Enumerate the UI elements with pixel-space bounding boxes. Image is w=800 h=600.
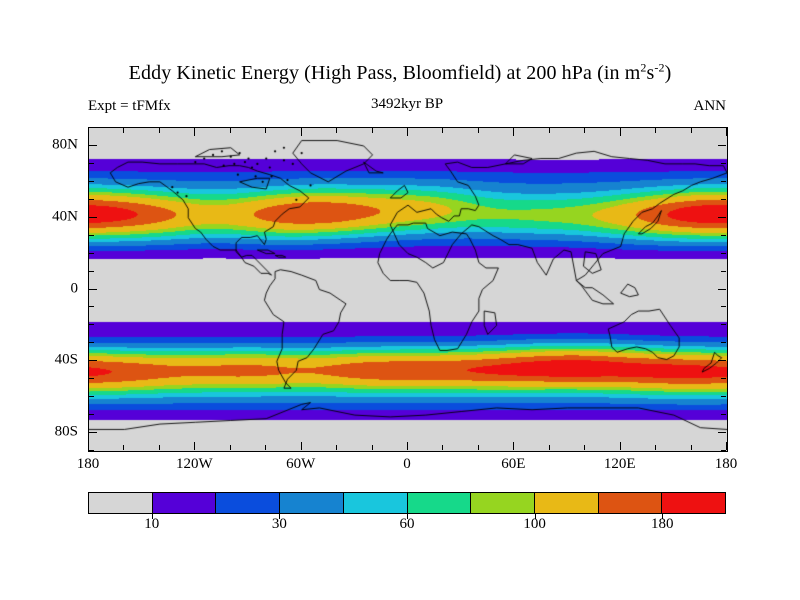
- colorbar-segment: [343, 493, 407, 513]
- x-tick-bottom: [336, 445, 337, 450]
- x-tick-bottom: [478, 445, 479, 450]
- y-tick-left: [89, 414, 94, 415]
- y-tick-right: [721, 181, 726, 182]
- y-tick-right: [721, 306, 726, 307]
- x-tick-top: [549, 128, 550, 133]
- y-tick-right: [721, 324, 726, 325]
- x-tick-bottom: [301, 442, 302, 450]
- y-tick-right: [721, 414, 726, 415]
- title-superscript-minus2: -2: [654, 60, 664, 74]
- y-tick-left: [89, 199, 94, 200]
- figure-root: Eddy Kinetic Energy (High Pass, Bloomfie…: [0, 0, 800, 600]
- x-tick-bottom: [549, 445, 550, 450]
- contour-map-canvas: [89, 128, 727, 451]
- y-tick-left: [89, 306, 94, 307]
- map-plot-area: [88, 127, 728, 452]
- x-tick-bottom: [123, 445, 124, 450]
- colorbar: [88, 492, 726, 514]
- y-tick-right: [721, 199, 726, 200]
- x-axis-label: 60W: [286, 456, 315, 473]
- y-axis-label: 80S: [55, 424, 78, 441]
- y-tick-left: [89, 360, 97, 361]
- x-tick-bottom: [691, 445, 692, 450]
- x-tick-top: [407, 128, 408, 136]
- y-tick-right: [718, 360, 726, 361]
- x-tick-top: [372, 128, 373, 133]
- y-tick-right: [718, 217, 726, 218]
- y-tick-left: [89, 217, 97, 218]
- age-label: 3492kyr BP: [88, 96, 726, 113]
- y-axis-label: 0: [71, 280, 79, 297]
- colorbar-segment: [470, 493, 534, 513]
- y-axis-label: 40S: [55, 352, 78, 369]
- x-tick-bottom: [159, 445, 160, 450]
- y-tick-right: [721, 127, 726, 128]
- x-tick-bottom: [442, 445, 443, 450]
- colorbar-label: 10: [144, 516, 159, 533]
- colorbar-segment: [279, 493, 343, 513]
- x-tick-bottom: [230, 445, 231, 450]
- x-tick-top: [655, 128, 656, 133]
- y-tick-left: [89, 163, 94, 164]
- x-tick-top: [88, 128, 89, 136]
- colorbar-segment: [152, 493, 216, 513]
- x-tick-bottom: [194, 442, 195, 450]
- colorbar-label: 180: [651, 516, 674, 533]
- x-tick-top: [123, 128, 124, 133]
- y-tick-right: [721, 378, 726, 379]
- x-axis-label: 180: [715, 456, 738, 473]
- x-tick-bottom: [372, 445, 373, 450]
- x-tick-top: [230, 128, 231, 133]
- x-tick-bottom: [513, 442, 514, 450]
- y-tick-left: [89, 181, 94, 182]
- x-tick-top: [336, 128, 337, 133]
- x-tick-bottom: [407, 442, 408, 450]
- x-tick-top: [442, 128, 443, 133]
- y-tick-left: [89, 432, 97, 433]
- y-tick-left: [89, 235, 94, 236]
- y-tick-left: [89, 271, 94, 272]
- colorbar-swatches: [88, 492, 726, 514]
- y-tick-right: [721, 450, 726, 451]
- y-tick-left: [89, 253, 94, 254]
- x-axis-label: 60E: [501, 456, 525, 473]
- colorbar-label: 30: [272, 516, 287, 533]
- colorbar-label: 60: [400, 516, 415, 533]
- x-tick-top: [265, 128, 266, 133]
- colorbar-segment: [215, 493, 279, 513]
- y-tick-left: [89, 378, 94, 379]
- colorbar-segment: [534, 493, 598, 513]
- page-title: Eddy Kinetic Energy (High Pass, Bloomfie…: [0, 62, 800, 85]
- x-tick-top: [159, 128, 160, 133]
- x-axis-label: 180: [77, 456, 100, 473]
- title-text-before: Eddy Kinetic Energy (High Pass, Bloomfie…: [129, 62, 641, 84]
- y-tick-left: [89, 342, 94, 343]
- y-axis-label: 80N: [52, 136, 78, 153]
- subtitle-row: Expt = tFMfx 3492kyr BP ANN: [88, 98, 726, 118]
- x-tick-bottom: [620, 442, 621, 450]
- y-tick-left: [89, 396, 94, 397]
- x-tick-top: [620, 128, 621, 136]
- x-tick-top: [691, 128, 692, 133]
- y-tick-left: [89, 145, 97, 146]
- y-tick-left: [89, 289, 97, 290]
- y-tick-right: [718, 289, 726, 290]
- x-tick-top: [194, 128, 195, 136]
- title-text-after: ): [665, 62, 672, 84]
- colorbar-segment: [661, 493, 725, 513]
- colorbar-label: 100: [523, 516, 546, 533]
- x-tick-top: [301, 128, 302, 136]
- y-tick-right: [721, 396, 726, 397]
- x-tick-top: [584, 128, 585, 133]
- y-tick-left: [89, 324, 94, 325]
- y-tick-right: [721, 235, 726, 236]
- x-tick-bottom: [265, 445, 266, 450]
- y-tick-right: [721, 342, 726, 343]
- x-axis-label: 120W: [176, 456, 213, 473]
- x-tick-bottom: [726, 442, 727, 450]
- y-tick-left: [89, 127, 94, 128]
- colorbar-segment: [598, 493, 662, 513]
- x-tick-top: [478, 128, 479, 133]
- y-tick-right: [721, 253, 726, 254]
- y-tick-left: [89, 450, 94, 451]
- x-axis-label: 120E: [604, 456, 636, 473]
- x-axis-label: 0: [403, 456, 411, 473]
- y-tick-right: [718, 432, 726, 433]
- y-tick-right: [721, 163, 726, 164]
- y-tick-right: [718, 145, 726, 146]
- y-tick-right: [721, 271, 726, 272]
- x-tick-top: [726, 128, 727, 136]
- x-tick-bottom: [584, 445, 585, 450]
- x-tick-bottom: [88, 442, 89, 450]
- x-tick-top: [513, 128, 514, 136]
- season-label: ANN: [694, 98, 727, 115]
- colorbar-segment: [89, 493, 152, 513]
- y-axis-label: 40N: [52, 208, 78, 225]
- x-tick-bottom: [655, 445, 656, 450]
- colorbar-segment: [407, 493, 471, 513]
